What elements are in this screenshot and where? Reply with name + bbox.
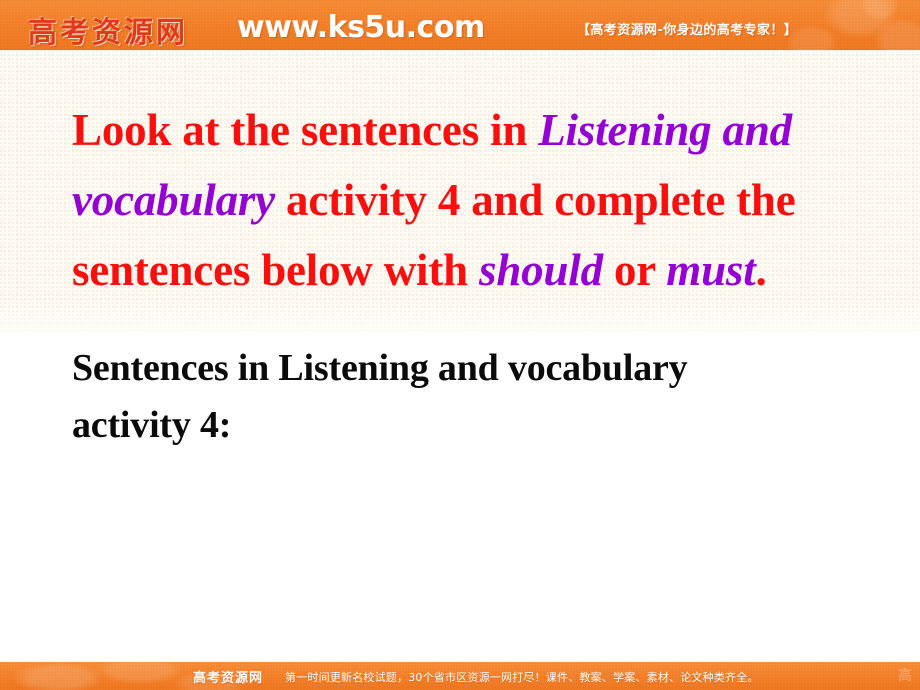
title-line-3-text-b: or (603, 245, 666, 295)
title-line-3-emphasis-must: must (666, 245, 755, 295)
title-line-2-emphasis: vocabulary (72, 175, 275, 225)
subtitle-line-2: activity 4: (72, 397, 872, 454)
site-tagline: 【高考资源网-你身边的高考专家！】 (577, 19, 797, 38)
footer-slogan-text: 第一时间更新名校试题，30个省市区资源一网打尽！课件、教案、学案、素材、论文种类… (285, 669, 759, 685)
title-line-3-emphasis-should: should (479, 245, 603, 295)
title-line-3-text-c: . (756, 245, 767, 295)
site-url-text[interactable]: www.ks5u.com (237, 10, 485, 45)
slide-title-block: Look at the sentences in Listening and v… (72, 95, 862, 305)
title-line-3: sentences below with should or must. (72, 235, 862, 305)
title-line-1-text: Look at the sentences in (72, 105, 538, 155)
title-line-2-text: activity 4 and complete the (275, 175, 796, 225)
presentation-slide: 高考资源网 www.ks5u.com 【高考资源网-你身边的高考专家！】 Loo… (0, 0, 920, 690)
title-line-3-text-a: sentences below with (72, 245, 479, 295)
title-line-2: vocabulary activity 4 and complete the (72, 165, 862, 235)
footer-brand-text: 高考资源网 (193, 667, 263, 686)
site-footer-bar: 高考资源网 第一时间更新名校试题，30个省市区资源一网打尽！课件、教案、学案、素… (0, 662, 920, 690)
site-header-bar: 高考资源网 www.ks5u.com 【高考资源网-你身边的高考专家！】 (0, 0, 920, 50)
subtitle-line-1: Sentences in Listening and vocabulary (72, 340, 872, 397)
slide-subtitle-block: Sentences in Listening and vocabulary ac… (72, 340, 872, 454)
slide-body: Look at the sentences in Listening and v… (0, 50, 920, 662)
footer-watermark: 高 (898, 665, 912, 685)
title-line-1-emphasis: Listening and (538, 105, 792, 155)
title-line-1: Look at the sentences in Listening and (72, 95, 862, 165)
site-logo-text: 高考资源网 (28, 9, 188, 50)
